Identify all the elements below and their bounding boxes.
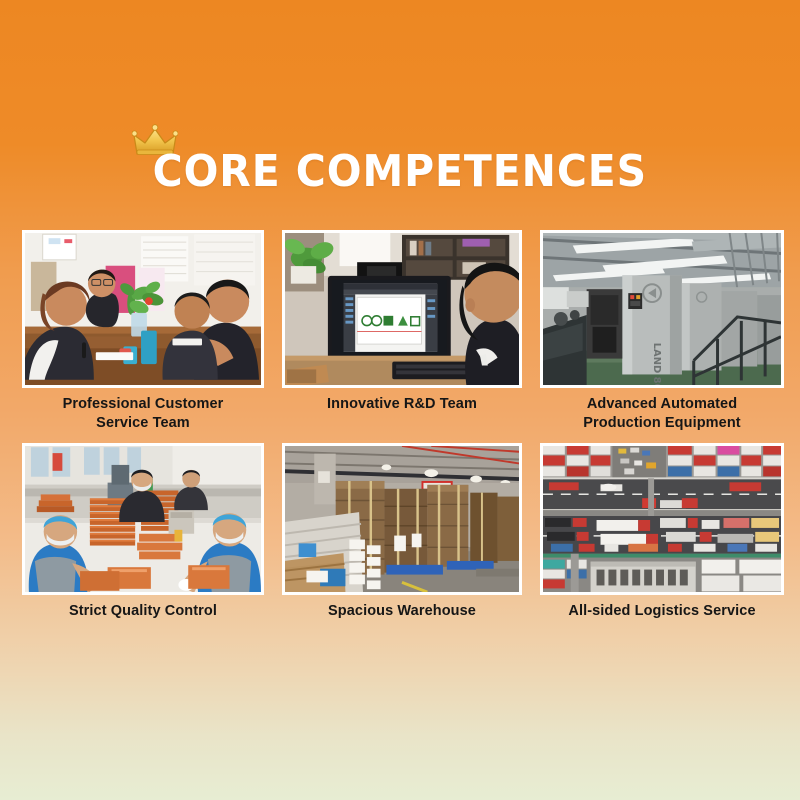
caption-advanced-automated-production-equipment: Advanced Automated Production Equipment	[540, 395, 784, 433]
caption-spacious-warehouse: Spacious Warehouse	[282, 602, 522, 620]
caption-all-sided-logistics-service: All-sided Logistics Service	[540, 602, 784, 620]
caption-innovative-rd-team: Innovative R&D Team	[282, 395, 522, 413]
tile-professional-customer-service-team[interactable]: Professional Customer Service Team	[22, 230, 264, 433]
tile-spacious-warehouse[interactable]: Spacious Warehouse	[282, 443, 522, 620]
tile-advanced-automated-production-equipment[interactable]: LAND 800	[540, 230, 784, 433]
page-title: CORE COMPETENCES	[153, 150, 647, 194]
photo-strict-quality-control	[22, 443, 264, 595]
photo-innovative-rd-team	[282, 230, 522, 388]
competences-grid: Professional Customer Service Team	[22, 230, 778, 620]
tile-innovative-rd-team[interactable]: Innovative R&D Team	[282, 230, 522, 433]
photo-production-equipment: LAND 800	[540, 230, 784, 388]
svg-text:LAND 800: LAND 800	[651, 343, 662, 385]
photo-all-sided-logistics-service	[540, 443, 784, 595]
photo-spacious-warehouse	[282, 443, 522, 595]
caption-professional-customer-service-team: Professional Customer Service Team	[22, 395, 264, 433]
photo-customer-service-team	[22, 230, 264, 388]
page-title-block: CORE COMPETENCES	[0, 150, 800, 194]
title-wrapper: CORE COMPETENCES	[134, 150, 666, 194]
tile-all-sided-logistics-service[interactable]: All-sided Logistics Service	[540, 443, 784, 620]
caption-strict-quality-control: Strict Quality Control	[22, 602, 264, 620]
tile-strict-quality-control[interactable]: Strict Quality Control	[22, 443, 264, 620]
